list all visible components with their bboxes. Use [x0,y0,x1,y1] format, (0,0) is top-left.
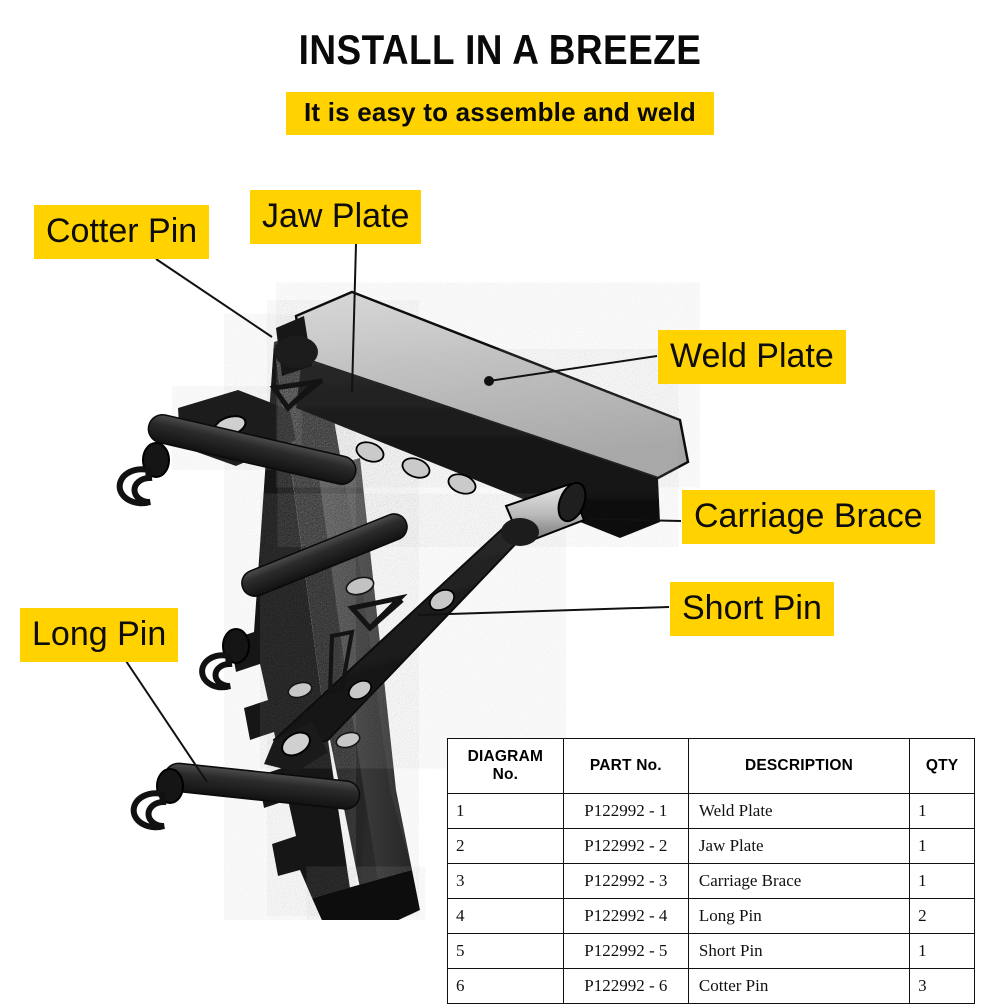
cell-qty: 1 [910,829,975,864]
cell-part-no: P122992 - 4 [563,899,688,934]
table-header-row: DIAGRAM No. PART No. DESCRIPTION QTY [448,739,975,794]
callout-weld-plate: Weld Plate [658,330,846,384]
cell-description: Cotter Pin [688,969,909,1004]
cell-diagram-no: 3 [448,864,564,899]
cell-description: Weld Plate [688,794,909,829]
page-title: INSTALL IN A BREEZE [60,26,940,74]
table-row: 4 P122992 - 4 Long Pin 2 [448,899,975,934]
column-header-diagram-no: DIAGRAM No. [448,739,564,794]
cell-part-no: P122992 - 6 [563,969,688,1004]
column-header-qty: QTY [910,739,975,794]
cell-diagram-no: 1 [448,794,564,829]
callout-short-pin: Short Pin [670,582,834,636]
cell-part-no: P122992 - 5 [563,934,688,969]
cell-part-no: P122992 - 3 [563,864,688,899]
header-diagram-line2: No. [493,766,519,783]
table-row: 6 P122992 - 6 Cotter Pin 3 [448,969,975,1004]
cell-part-no: P122992 - 2 [563,829,688,864]
parts-table-body: 1 P122992 - 1 Weld Plate 1 2 P122992 - 2… [448,794,975,1004]
parts-table-head: DIAGRAM No. PART No. DESCRIPTION QTY [448,739,975,794]
cell-qty: 1 [910,794,975,829]
cell-description: Jaw Plate [688,829,909,864]
page-subtitle: It is easy to assemble and weld [286,92,714,135]
cell-description: Long Pin [688,899,909,934]
cell-qty: 1 [910,934,975,969]
parts-table: DIAGRAM No. PART No. DESCRIPTION QTY 1 P… [447,738,975,1004]
cell-diagram-no: 4 [448,899,564,934]
cell-qty: 1 [910,864,975,899]
cell-diagram-no: 5 [448,934,564,969]
header-diagram-line1: DIAGRAM [468,748,543,765]
infographic-page: INSTALL IN A BREEZE It is easy to assemb… [0,0,1000,1000]
table-row: 1 P122992 - 1 Weld Plate 1 [448,794,975,829]
column-header-part-no: PART No. [563,739,688,794]
cell-diagram-no: 2 [448,829,564,864]
cell-part-no: P122992 - 1 [563,794,688,829]
table-row: 3 P122992 - 3 Carriage Brace 1 [448,864,975,899]
callout-long-pin: Long Pin [20,608,178,662]
callout-carriage-brace: Carriage Brace [682,490,935,544]
cell-description: Short Pin [688,934,909,969]
cell-diagram-no: 6 [448,969,564,1004]
cell-qty: 2 [910,899,975,934]
table-row: 2 P122992 - 2 Jaw Plate 1 [448,829,975,864]
table-row: 5 P122992 - 5 Short Pin 1 [448,934,975,969]
callout-jaw-plate: Jaw Plate [250,190,421,244]
cell-description: Carriage Brace [688,864,909,899]
subtitle-container: It is easy to assemble and weld [0,92,1000,135]
column-header-description: DESCRIPTION [688,739,909,794]
callout-cotter-pin: Cotter Pin [34,205,209,259]
cell-qty: 3 [910,969,975,1004]
